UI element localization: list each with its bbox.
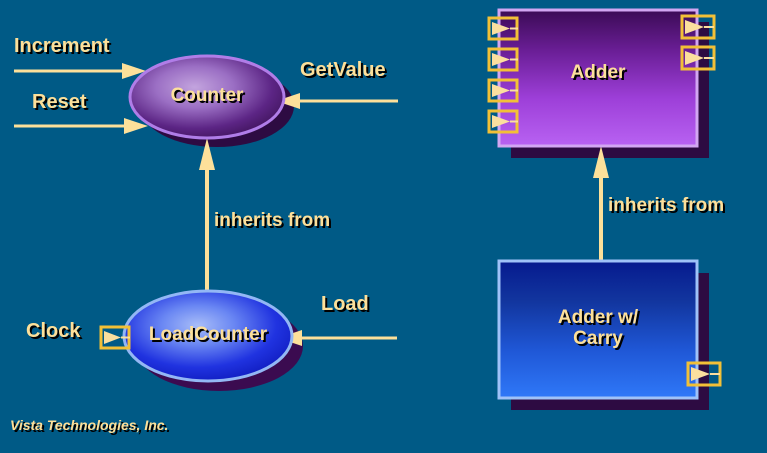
node-adder-carry[interactable] bbox=[499, 261, 697, 398]
node-counter[interactable] bbox=[130, 56, 284, 138]
inherits-left-wire[interactable] bbox=[199, 138, 215, 305]
node-adder[interactable] bbox=[499, 10, 697, 146]
increment-wire[interactable] bbox=[14, 63, 146, 79]
company-signature: Vista Technologies, Inc. bbox=[10, 417, 168, 433]
node-loadcounter[interactable] bbox=[124, 291, 292, 381]
reset-wire[interactable] bbox=[14, 118, 148, 134]
load-wire[interactable] bbox=[278, 330, 397, 346]
diagram-vector-layer bbox=[0, 0, 767, 453]
diagram-canvas: Counter LoadCounter Adder Adder w/ Carry… bbox=[0, 0, 767, 453]
inherits-right-wire[interactable] bbox=[593, 146, 609, 261]
getvalue-wire[interactable] bbox=[276, 93, 398, 109]
